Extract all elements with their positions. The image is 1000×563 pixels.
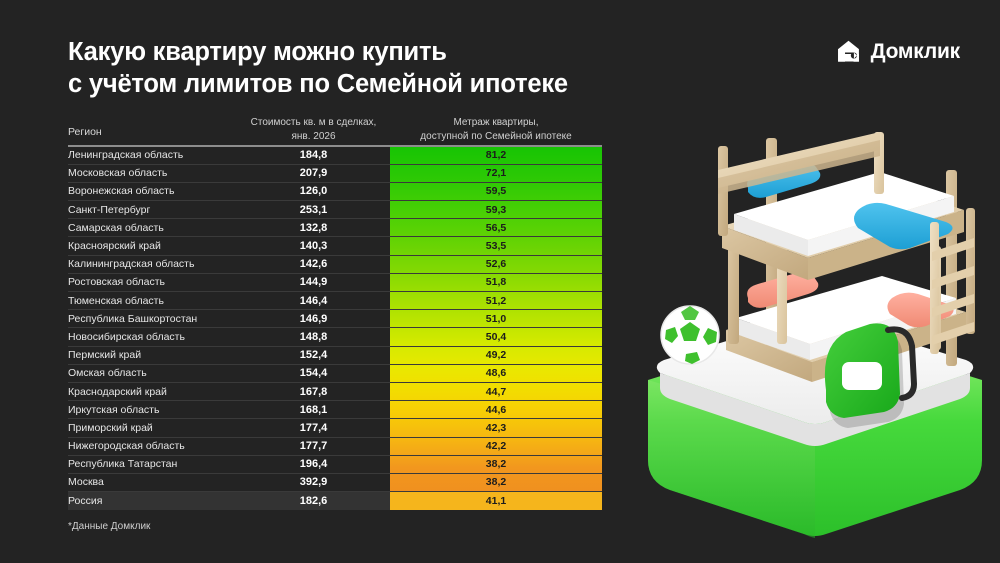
table-row: Тюменская область146,451,2	[68, 292, 602, 310]
bunk-bed-illustration	[630, 130, 1000, 560]
table-row: Нижегородская область177,742,2	[68, 438, 602, 456]
cell-region: Тюменская область	[68, 295, 164, 307]
domclick-logo: Домклик	[835, 38, 960, 65]
cell-region: Нижегородская область	[68, 440, 185, 452]
cell-cost: 182,6	[236, 495, 391, 507]
cell-cost: 207,9	[236, 167, 391, 179]
cell-cost: 132,8	[236, 222, 391, 234]
cell-region: Красноярский край	[68, 240, 161, 252]
cell-area: 42,3	[390, 422, 602, 434]
cell-area: 56,5	[390, 222, 602, 234]
soccer-ball	[661, 306, 719, 364]
table-row: Калининградская область142,652,6	[68, 256, 602, 274]
cell-area: 44,6	[390, 404, 602, 416]
cell-region: Приморский край	[68, 422, 153, 434]
table-row: Приморский край177,442,3	[68, 419, 602, 437]
cell-area: 44,7	[390, 386, 602, 398]
cell-cost: 146,4	[236, 295, 391, 307]
cell-region: Краснодарский край	[68, 386, 167, 398]
cell-area: 38,2	[390, 458, 602, 470]
table-row: Воронежская область126,059,5	[68, 183, 602, 201]
column-header-region: Регион	[68, 126, 102, 138]
column-header-area: Метраж квартиры, доступной по Семейной и…	[390, 116, 602, 143]
column-header-area-line1: Метраж квартиры,	[453, 117, 538, 128]
cell-cost: 253,1	[236, 204, 391, 216]
cell-region: Санкт-Петербург	[68, 204, 150, 216]
cell-region: Московская область	[68, 167, 167, 179]
table-row: Москва392,938,2	[68, 474, 602, 492]
cell-cost: 142,6	[236, 258, 391, 270]
cell-area: 41,1	[390, 495, 602, 507]
table-row: Ростовская область144,951,8	[68, 274, 602, 292]
cell-area: 72,1	[390, 167, 602, 179]
cell-area: 52,6	[390, 258, 602, 270]
cell-cost: 167,8	[236, 386, 391, 398]
column-header-cost: Стоимость кв. м в сделках, янв. 2026	[236, 116, 391, 143]
house-icon	[835, 38, 862, 65]
table-row: Санкт-Петербург253,159,3	[68, 201, 602, 219]
title-line-2: с учётом лимитов по Семейной ипотеке	[68, 68, 708, 100]
cell-cost: 177,7	[236, 440, 391, 452]
cell-area: 50,4	[390, 331, 602, 343]
cell-area: 59,5	[390, 185, 602, 197]
cell-area: 81,2	[390, 149, 602, 161]
cell-region: Пермский край	[68, 349, 141, 361]
cell-region: Самарская область	[68, 222, 164, 234]
table-row: Московская область207,972,1	[68, 165, 602, 183]
cell-region: Москва	[68, 476, 104, 488]
cell-cost: 140,3	[236, 240, 391, 252]
column-header-cost-line2: янв. 2026	[291, 131, 335, 142]
cell-region: Республика Башкортостан	[68, 313, 197, 325]
cell-area: 59,3	[390, 204, 602, 216]
table-row: Иркутская область168,144,6	[68, 401, 602, 419]
cell-region: Воронежская область	[68, 185, 174, 197]
cell-region: Ленинградская область	[68, 149, 183, 161]
table-row: Новосибирская область148,850,4	[68, 328, 602, 346]
cell-area: 53,5	[390, 240, 602, 252]
cell-area: 48,6	[390, 367, 602, 379]
table-row: Самарская область132,856,5	[68, 219, 602, 237]
cell-cost: 184,8	[236, 149, 391, 161]
table-row: Омская область154,448,6	[68, 365, 602, 383]
page-title: Какую квартиру можно купить с учётом лим…	[68, 36, 708, 100]
cell-cost: 148,8	[236, 331, 391, 343]
cell-region: Россия	[68, 495, 102, 507]
table-row: Пермский край152,449,2	[68, 347, 602, 365]
cell-area: 38,2	[390, 476, 602, 488]
table-row: Красноярский край140,353,5	[68, 237, 602, 255]
cell-cost: 126,0	[236, 185, 391, 197]
title-line-1: Какую квартиру можно купить	[68, 36, 708, 68]
comparison-table: Регион Стоимость кв. м в сделках, янв. 2…	[68, 116, 602, 510]
cell-region: Иркутская область	[68, 404, 159, 416]
cell-region: Ростовская область	[68, 276, 165, 288]
table-row: Республика Башкортостан146,951,0	[68, 310, 602, 328]
table-row: Ленинградская область184,881,2	[68, 147, 602, 165]
cell-area: 51,2	[390, 295, 602, 307]
column-header-cost-line1: Стоимость кв. м в сделках,	[251, 117, 377, 128]
cell-cost: 152,4	[236, 349, 391, 361]
column-header-area-line2: доступной по Семейной ипотеке	[420, 131, 571, 142]
table-body: Ленинградская область184,881,2Московская…	[68, 147, 602, 511]
table-row: Республика Татарстан196,438,2	[68, 456, 602, 474]
cell-region: Новосибирская область	[68, 331, 185, 343]
cell-cost: 196,4	[236, 458, 391, 470]
cell-region: Калининградская область	[68, 258, 194, 270]
cell-area: 51,8	[390, 276, 602, 288]
cell-cost: 392,9	[236, 476, 391, 488]
table-row-summary: Россия182,641,1	[68, 492, 602, 510]
cell-cost: 168,1	[236, 404, 391, 416]
cell-cost: 146,9	[236, 313, 391, 325]
cell-region: Омская область	[68, 367, 147, 379]
cell-region: Республика Татарстан	[68, 458, 177, 470]
table-header: Регион Стоимость кв. м в сделках, янв. 2…	[68, 116, 602, 145]
footnote: *Данные Домклик	[68, 521, 150, 532]
logo-wordmark: Домклик	[871, 40, 960, 64]
cell-area: 42,2	[390, 440, 602, 452]
cell-cost: 144,9	[236, 276, 391, 288]
cell-cost: 154,4	[236, 367, 391, 379]
table-row: Краснодарский край167,844,7	[68, 383, 602, 401]
cell-area: 51,0	[390, 313, 602, 325]
cell-cost: 177,4	[236, 422, 391, 434]
cell-area: 49,2	[390, 349, 602, 361]
